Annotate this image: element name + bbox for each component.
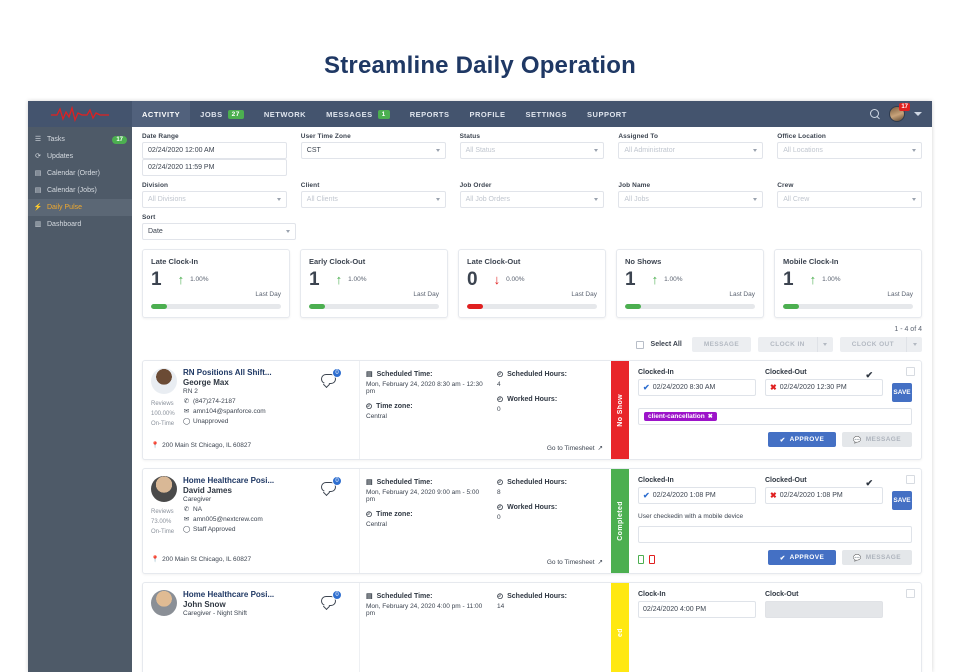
sidebar-item-daily-pulse[interactable]: ⚡ Daily Pulse (28, 199, 132, 216)
circle-icon: ◯ (183, 525, 190, 533)
clock-icon: ◴ (366, 402, 372, 410)
mobile-device-icon-red (649, 555, 655, 564)
sidebar-item-label: Tasks (47, 136, 65, 143)
page-root: Streamline Daily Operation ACTIVITY JOBS… (0, 0, 960, 672)
chevron-down-icon (594, 149, 598, 152)
record-schedule-panel: ▤Scheduled Time: Mon, February 24, 2020 … (359, 361, 491, 459)
chat-count-badge: 0 (332, 368, 342, 378)
heartbeat-logo[interactable] (28, 101, 132, 127)
crew-select[interactable]: All Crew (777, 191, 922, 208)
status-badge: No Show (611, 361, 629, 459)
select-value: Date (148, 228, 163, 235)
cross-icon: ✖ (770, 491, 777, 500)
crew-label: Crew (777, 182, 922, 189)
scheduled-time-label: Scheduled Time: (377, 593, 433, 600)
status-label: ed (617, 628, 624, 637)
kpi-progress-bar (151, 304, 281, 309)
clocked-in-value: 02/24/2020 1:08 PM (653, 492, 716, 499)
list-icon: ☰ (34, 136, 42, 144)
sidebar-item-calendar-jobs[interactable]: ▤ Calendar (Jobs) (28, 182, 132, 199)
table-row: Home Healthcare Posi... John Snow Caregi… (142, 582, 922, 672)
kpi-percent: 1.00% (664, 276, 682, 283)
chevron-down-icon (594, 198, 598, 201)
mobile-device-icon-green (638, 555, 644, 564)
pagination-label: 1 - 4 of 4 (142, 326, 922, 333)
kpi-progress-fill (467, 304, 483, 309)
kpi-title: Early Clock-Out (309, 257, 439, 266)
job-order-label: Job Order (460, 182, 605, 189)
clock-in-label: Clock-In (638, 591, 756, 598)
kpi-progress-fill (625, 304, 641, 309)
select-value: All Job Orders (466, 196, 510, 203)
row-select-checkbox[interactable] (906, 589, 915, 598)
trend-up-icon: ↑ (810, 273, 817, 286)
worker-role: Caregiver - Night Shift (183, 610, 351, 617)
time-zone-label: Time zone: (376, 511, 412, 518)
client-field: Client All Clients (301, 182, 446, 208)
reason-tag-select[interactable] (638, 526, 912, 543)
kpi-card-mobile-clock-in: Mobile Clock-In 1 ↑ 1.00% Last Day (774, 249, 922, 318)
time-zone-value: Central (366, 521, 485, 528)
message-label: MESSAGE (866, 554, 901, 561)
bulk-clock-in-split: CLOCK IN (758, 337, 833, 352)
kpi-percent: 1.00% (190, 276, 208, 283)
table-row: RN Positions All Shift... George Max RN … (142, 360, 922, 460)
location-pin-icon: 📍 (151, 441, 159, 449)
scheduled-hours-value: 4 (497, 381, 605, 388)
reason-tag-label: client-cancellation (648, 413, 705, 420)
phone-icon: ✆ (183, 397, 190, 405)
status-select[interactable]: All Status (460, 142, 605, 159)
close-icon[interactable]: ✖ (708, 413, 713, 420)
select-all-checkbox[interactable] (636, 341, 644, 349)
nav-label: SUPPORT (587, 110, 627, 119)
chat-count-badge: 0 (332, 590, 342, 600)
kpi-percent: 1.00% (822, 276, 840, 283)
scheduled-time-value: Mon, February 24, 2020 9:00 am - 5:00 pm (366, 489, 485, 503)
kpi-value: 1 (309, 270, 320, 289)
go-to-timesheet-label: Go to Timesheet (547, 445, 595, 452)
chevron-down-icon[interactable] (914, 112, 922, 116)
scheduled-time-label: Scheduled Time: (377, 371, 433, 378)
worked-hours-label: Worked Hours: (507, 396, 557, 403)
nav-label: JOBS (200, 110, 222, 119)
record-hours-panel: ◴Scheduled Hours: 4 ◴Worked Hours: 0 Go … (491, 361, 611, 459)
row-select-checkbox[interactable] (906, 475, 915, 484)
kpi-progress-fill (783, 304, 799, 309)
trend-down-icon: ↓ (494, 273, 501, 286)
kpi-period: Last Day (467, 291, 597, 298)
worker-email: amn005@nextcrew.com (193, 516, 263, 523)
chevron-down-icon (912, 149, 916, 152)
sort-field: Sort Date (142, 214, 296, 240)
user-time-zone-field: User Time Zone CST (301, 133, 446, 176)
kpi-card-late-clock-in: Late Clock-In 1 ↑ 1.00% Last Day (142, 249, 290, 318)
worker-role: Caregiver (183, 496, 351, 503)
approved-check-icon[interactable]: ✔ (865, 478, 873, 489)
external-link-icon: ↗ (598, 558, 603, 566)
reviews-label: Reviews (151, 507, 174, 517)
approve-button[interactable]: ✔ APPROVE (768, 550, 836, 565)
go-to-timesheet-link[interactable]: Go to Timesheet ↗ (547, 444, 603, 452)
nav-item-network[interactable]: NETWORK (254, 101, 316, 127)
app-window: ACTIVITY JOBS 27 NETWORK MESSAGES 1 REPO… (28, 101, 932, 672)
office-location-field: Office Location All Locations (777, 133, 922, 176)
nav-item-settings[interactable]: SETTINGS (516, 101, 578, 127)
calendar-icon: ▤ (366, 370, 373, 378)
date-from-input[interactable]: 02/24/2020 12:00 AM (142, 142, 287, 159)
device-indicators (638, 555, 655, 564)
chevron-down-icon (286, 230, 290, 233)
reviews-percent: 100.00% (151, 409, 175, 419)
worked-hours-value: 0 (497, 514, 605, 521)
record-person-panel: Home Healthcare Posi... John Snow Caregi… (143, 583, 359, 672)
scheduled-time-value: Mon, February 24, 2020 4:00 pm - 11:00 p… (366, 603, 485, 617)
chat-icon[interactable]: 0 (321, 592, 341, 610)
kpi-value: 0 (467, 270, 478, 289)
scheduled-hours-value: 8 (497, 489, 605, 496)
status-badge: Completed (611, 469, 629, 573)
approved-check-icon[interactable]: ✔ (865, 370, 873, 381)
select-value: All Status (466, 147, 496, 154)
kpi-title: No Shows (625, 257, 755, 266)
clocked-in-input[interactable]: ✔ 02/24/2020 1:08 PM (638, 487, 756, 504)
sidebar-item-tasks[interactable]: ☰ Tasks 17 (28, 131, 132, 148)
division-select[interactable]: All Divisions (142, 191, 287, 208)
jobs-count-badge: 27 (228, 110, 244, 119)
select-value: All Administrator (624, 147, 675, 154)
scheduled-hours-label: Scheduled Hours: (507, 593, 567, 600)
client-label: Client (301, 182, 446, 189)
kpi-period: Last Day (309, 291, 439, 298)
bulk-clock-in-button[interactable]: CLOCK IN (758, 337, 817, 352)
search-icon[interactable] (870, 109, 880, 119)
sidebar-item-label: Calendar (Order) (47, 170, 100, 177)
go-to-timesheet-link[interactable]: Go to Timesheet ↗ (547, 558, 603, 566)
date-to-input[interactable]: 02/24/2020 11:59 PM (142, 159, 287, 176)
nav-item-profile[interactable]: PROFILE (460, 101, 516, 127)
approval-status: Staff Approved (193, 526, 236, 533)
go-to-timesheet-label: Go to Timesheet (547, 559, 595, 566)
division-field: Division All Divisions (142, 182, 287, 208)
kpi-title: Late Clock-Out (467, 257, 597, 266)
top-right-actions: 17 (870, 101, 922, 127)
kpi-card-no-shows: No Shows 1 ↑ 1.00% Last Day (616, 249, 764, 318)
check-icon: ✔ (643, 383, 650, 392)
check-icon: ✔ (780, 554, 786, 562)
bulk-message-button[interactable]: MESSAGE (692, 337, 751, 352)
scheduled-hours-label: Scheduled Hours: (507, 371, 567, 378)
location-pin-icon: 📍 (151, 555, 159, 563)
calendar-icon: ▤ (366, 592, 373, 600)
chat-icon: 💬 (853, 436, 862, 444)
reviews-label: Reviews (151, 399, 175, 409)
clocked-out-value: 02/24/2020 12:30 PM (780, 384, 847, 391)
nav-item-support[interactable]: SUPPORT (577, 101, 637, 127)
select-value: All Crew (783, 196, 809, 203)
sidebar-item-updates[interactable]: ⟳ Updates (28, 148, 132, 165)
on-time-label: On-Time (151, 419, 175, 429)
clocked-in-input[interactable]: ✔ 02/24/2020 8:30 AM (638, 379, 756, 396)
reviews-percent: 73.00% (151, 517, 174, 527)
message-button[interactable]: 💬 MESSAGE (842, 432, 912, 447)
clocked-in-label: Clocked-In (638, 477, 756, 484)
avatar[interactable]: 17 (889, 106, 905, 122)
record-clock-panel: ✔ Clocked-In ✔ 02/24/2020 1:08 PM Clocke (629, 469, 921, 573)
kpi-period: Last Day (783, 291, 913, 298)
clock-icon: ◴ (497, 503, 503, 511)
record-clock-panel: Clock-In 02/24/2020 4:00 PM Clock-Out (629, 583, 921, 672)
kpi-progress-bar (783, 304, 913, 309)
nav-item-reports[interactable]: REPORTS (400, 101, 460, 127)
scheduled-hours-value: 14 (497, 603, 605, 610)
cross-icon: ✖ (770, 383, 777, 392)
nav-label: NETWORK (264, 110, 306, 119)
clock-icon: ◴ (497, 370, 503, 378)
tasks-count-badge: 17 (112, 136, 127, 144)
avatar (151, 590, 177, 616)
phone-icon: ✆ (183, 505, 190, 513)
record-person-panel: Home Healthcare Posi... David James Care… (143, 469, 359, 573)
record-schedule-panel: ▤Scheduled Time: Mon, February 24, 2020 … (359, 583, 491, 672)
clock-in-value: 02/24/2020 4:00 PM (643, 606, 706, 613)
worker-address-row: 📍 200 Main St Chicago, IL 60827 (151, 441, 251, 449)
user-time-zone-label: User Time Zone (301, 133, 446, 140)
nav-item-messages[interactable]: MESSAGES 1 (316, 101, 400, 127)
job-name-field: Job Name All Jobs (618, 182, 763, 208)
select-value: All Clients (307, 196, 338, 203)
sort-label: Sort (142, 214, 296, 221)
approve-label: APPROVE (790, 554, 825, 561)
clock-icon: ◴ (497, 395, 503, 403)
clocked-out-input[interactable]: ✖ 02/24/2020 12:30 PM (765, 379, 883, 396)
calendar-icon: ▤ (34, 170, 42, 178)
chevron-down-icon (912, 198, 916, 201)
mail-icon: ✉ (183, 407, 190, 415)
reviews-block: Reviews 73.00% On-Time (151, 507, 174, 537)
clock-out-dropdown-toggle[interactable] (906, 337, 922, 352)
scheduled-time-label: Scheduled Time: (377, 479, 433, 486)
record-person-panel: RN Positions All Shift... George Max RN … (143, 361, 359, 459)
select-all-label: Select All (651, 341, 682, 348)
page-title: Streamline Daily Operation (0, 0, 960, 80)
office-location-select[interactable]: All Locations (777, 142, 922, 159)
status-badge: ed (611, 583, 629, 672)
chat-icon: 💬 (853, 554, 862, 562)
job-order-field: Job Order All Job Orders (460, 182, 605, 208)
main-content: Date Range 02/24/2020 12:00 AM 02/24/202… (132, 127, 932, 672)
avatar (151, 368, 177, 394)
worker-phone: NA (193, 506, 202, 513)
status-label: Status (460, 133, 605, 140)
trend-up-icon: ↑ (178, 273, 185, 286)
clock-in-input[interactable]: 02/24/2020 4:00 PM (638, 601, 756, 618)
sidebar: ☰ Tasks 17 ⟳ Updates ▤ Calendar (Order) … (28, 127, 132, 672)
approve-button[interactable]: ✔ APPROVE (768, 432, 836, 447)
kpi-card-early-clock-out: Early Clock-Out 1 ↑ 1.00% Last Day (300, 249, 448, 318)
sidebar-item-dashboard[interactable]: ▥ Dashboard (28, 216, 132, 233)
worked-hours-value: 0 (497, 406, 605, 413)
kpi-period: Last Day (625, 291, 755, 298)
reason-tag: client-cancellation ✖ (644, 412, 717, 421)
trend-up-icon: ↑ (336, 273, 343, 286)
nav-items: ACTIVITY JOBS 27 NETWORK MESSAGES 1 REPO… (132, 101, 637, 127)
save-button[interactable]: SAVE (892, 491, 912, 510)
message-label: MESSAGE (866, 436, 901, 443)
approve-label: APPROVE (790, 436, 825, 443)
nav-label: SETTINGS (526, 110, 568, 119)
chevron-down-icon (913, 343, 917, 346)
external-link-icon: ↗ (598, 444, 603, 452)
select-value: All Divisions (148, 196, 186, 203)
top-navigation-bar: ACTIVITY JOBS 27 NETWORK MESSAGES 1 REPO… (28, 101, 932, 127)
select-value: CST (307, 147, 321, 154)
app-body: ☰ Tasks 17 ⟳ Updates ▤ Calendar (Order) … (28, 127, 932, 672)
clock-note: User checkedin with a mobile device (638, 513, 912, 520)
nav-label: MESSAGES (326, 110, 373, 119)
chevron-down-icon (753, 149, 757, 152)
clock-icon: ◴ (366, 510, 372, 518)
date-range-label: Date Range (142, 133, 287, 140)
sidebar-item-label: Dashboard (47, 221, 81, 228)
kpi-percent: 0.00% (506, 276, 524, 283)
status-label: Completed (617, 501, 624, 541)
clocked-out-value: 02/24/2020 1:08 PM (780, 492, 843, 499)
kpi-title: Late Clock-In (151, 257, 281, 266)
nav-label: ACTIVITY (142, 110, 180, 119)
status-field: Status All Status (460, 133, 605, 176)
clocked-in-value: 02/24/2020 8:30 AM (653, 384, 716, 391)
mail-icon: ✉ (183, 515, 190, 523)
worker-address: 200 Main St Chicago, IL 60827 (162, 442, 251, 449)
chevron-down-icon (823, 343, 827, 346)
record-hours-panel: ◴Scheduled Hours: 14 (491, 583, 611, 672)
kpi-progress-bar (309, 304, 439, 309)
notification-badge: 17 (899, 103, 910, 111)
chevron-down-icon (436, 198, 440, 201)
filter-row-2: Division All Divisions Client All Client… (142, 182, 922, 208)
on-time-label: On-Time (151, 527, 174, 537)
reason-tag-select[interactable]: client-cancellation ✖ (638, 408, 912, 425)
chevron-down-icon (277, 198, 281, 201)
kpi-percent: 1.00% (348, 276, 366, 283)
worker-email: amn104@spanforce.com (193, 408, 266, 415)
bolt-icon: ⚡ (34, 204, 42, 212)
sidebar-item-calendar-order[interactable]: ▤ Calendar (Order) (28, 165, 132, 182)
bulk-clock-out-split: CLOCK OUT (840, 337, 922, 352)
time-zone-value: Central (366, 413, 485, 420)
kpi-card-late-clock-out: Late Clock-Out 0 ↓ 0.00% Last Day (458, 249, 606, 318)
sidebar-item-label: Calendar (Jobs) (47, 187, 97, 194)
clock-out-label: Clock-Out (765, 591, 883, 598)
kpi-value: 1 (625, 270, 636, 289)
kpi-value: 1 (151, 270, 162, 289)
clocked-in-label: Clocked-In (638, 369, 756, 376)
check-icon: ✔ (780, 436, 786, 444)
kpi-value: 1 (783, 270, 794, 289)
table-row: Home Healthcare Posi... David James Care… (142, 468, 922, 574)
check-icon: ✔ (643, 491, 650, 500)
division-label: Division (142, 182, 287, 189)
worker-role: RN 2 (183, 388, 351, 395)
chat-icon[interactable]: 0 (321, 478, 341, 496)
reviews-block: Reviews 100.00% On-Time (151, 399, 175, 429)
chevron-down-icon (436, 149, 440, 152)
select-value: All Locations (783, 147, 823, 154)
clock-icon: ◴ (497, 592, 503, 600)
clock-in-dropdown-toggle[interactable] (817, 337, 833, 352)
kpi-progress-fill (309, 304, 325, 309)
office-location-label: Office Location (777, 133, 922, 140)
message-button[interactable]: 💬 MESSAGE (842, 550, 912, 565)
worked-hours-label: Worked Hours: (507, 504, 557, 511)
kpi-progress-bar (625, 304, 755, 309)
messages-count-badge: 1 (378, 110, 390, 119)
chat-icon[interactable]: 0 (321, 370, 341, 388)
avatar (151, 476, 177, 502)
save-button[interactable]: SAVE (892, 383, 912, 402)
nav-item-activity[interactable]: ACTIVITY (132, 101, 190, 127)
assigned-to-label: Assigned To (618, 133, 763, 140)
time-zone-label: Time zone: (376, 403, 412, 410)
nav-item-jobs[interactable]: JOBS 27 (190, 101, 254, 127)
sidebar-item-label: Updates (47, 153, 73, 160)
assigned-to-field: Assigned To All Administrator (618, 133, 763, 176)
job-order-select[interactable]: All Job Orders (460, 191, 605, 208)
sort-select[interactable]: Date (142, 223, 296, 240)
clock-out-input[interactable] (765, 601, 883, 618)
approval-status: Unapproved (193, 418, 228, 425)
client-select[interactable]: All Clients (301, 191, 446, 208)
kpi-progress-bar (467, 304, 597, 309)
assigned-to-select[interactable]: All Administrator (618, 142, 763, 159)
worker-address-row: 📍 200 Main St Chicago, IL 60827 (151, 555, 251, 563)
nav-label: PROFILE (470, 110, 506, 119)
sidebar-item-label: Daily Pulse (47, 204, 82, 211)
worker-phone: (847)274-2187 (193, 398, 236, 405)
nav-label: REPORTS (410, 110, 450, 119)
chevron-down-icon (753, 198, 757, 201)
calendar-icon: ▤ (34, 187, 42, 195)
scheduled-time-value: Mon, February 24, 2020 8:30 am - 12:30 p… (366, 381, 485, 395)
calendar-icon: ▤ (366, 478, 373, 486)
record-clock-panel: ✔ Clocked-In ✔ 02/24/2020 8:30 AM Clocke (629, 361, 921, 459)
kpi-title: Mobile Clock-In (783, 257, 913, 266)
worker-address: 200 Main St Chicago, IL 60827 (162, 556, 251, 563)
job-name-select[interactable]: All Jobs (618, 191, 763, 208)
chat-count-badge: 0 (332, 476, 342, 486)
record-schedule-panel: ▤Scheduled Time: Mon, February 24, 2020 … (359, 469, 491, 573)
job-name-label: Job Name (618, 182, 763, 189)
filter-row-1: Date Range 02/24/2020 12:00 AM 02/24/202… (142, 133, 922, 176)
circle-icon: ◯ (183, 417, 190, 425)
refresh-icon: ⟳ (34, 153, 42, 161)
user-time-zone-select[interactable]: CST (301, 142, 446, 159)
kpi-progress-fill (151, 304, 167, 309)
crew-field: Crew All Crew (777, 182, 922, 208)
kpi-cards: Late Clock-In 1 ↑ 1.00% Last Day Early C… (142, 249, 922, 318)
bulk-action-toolbar: Select All MESSAGE CLOCK IN CLOCK OUT (142, 337, 922, 352)
clock-icon: ◴ (497, 478, 503, 486)
status-label: No Show (617, 394, 624, 427)
kpi-period: Last Day (151, 291, 281, 298)
bulk-clock-out-button[interactable]: CLOCK OUT (840, 337, 906, 352)
chart-icon: ▥ (34, 221, 42, 229)
select-value: All Jobs (624, 196, 649, 203)
clocked-out-input[interactable]: ✖ 02/24/2020 1:08 PM (765, 487, 883, 504)
row-select-checkbox[interactable] (906, 367, 915, 376)
record-hours-panel: ◴Scheduled Hours: 8 ◴Worked Hours: 0 Go … (491, 469, 611, 573)
